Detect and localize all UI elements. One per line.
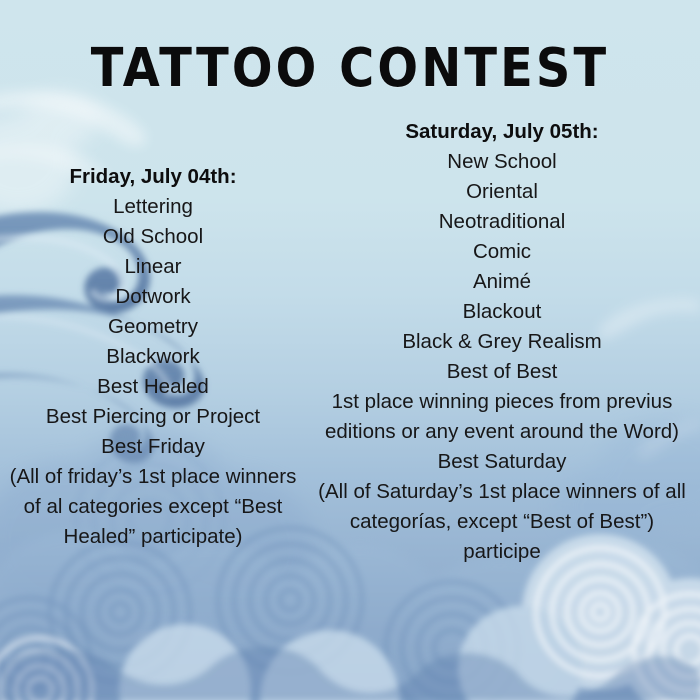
friday-item: Linear	[8, 252, 298, 282]
saturday-best-saturday: Best Saturday	[318, 447, 686, 477]
saturday-item: Black & Grey Realism	[318, 327, 686, 357]
saturday-item: Neotraditional	[318, 207, 686, 237]
friday-item: Geometry	[8, 312, 298, 342]
saturday-item: Animé	[318, 267, 686, 297]
saturday-item: Best of Best	[318, 357, 686, 387]
friday-item: Best Piercing or Project	[8, 402, 298, 432]
saturday-item: Oriental	[318, 177, 686, 207]
friday-heading: Friday, July 04th:	[8, 162, 298, 192]
schedule-columns: Friday, July 04th: Lettering Old School …	[0, 0, 700, 700]
saturday-note: (All of Saturday’s 1st place winners of …	[318, 477, 686, 567]
friday-item: Best Healed	[8, 372, 298, 402]
friday-column: Friday, July 04th: Lettering Old School …	[8, 162, 298, 552]
friday-item: Dotwork	[8, 282, 298, 312]
saturday-heading: Saturday, July 05th:	[318, 117, 686, 147]
saturday-item: Comic	[318, 237, 686, 267]
friday-item: Best Friday	[8, 432, 298, 462]
saturday-column: Saturday, July 05th: New School Oriental…	[318, 117, 686, 567]
poster-content: TATTOO CONTEST Friday, July 04th: Letter…	[0, 0, 700, 700]
friday-item: Old School	[8, 222, 298, 252]
saturday-item: Blackout	[318, 297, 686, 327]
poster-canvas: TATTOO CONTEST Friday, July 04th: Letter…	[0, 0, 700, 700]
friday-item: Blackwork	[8, 342, 298, 372]
saturday-best-of-best-note: 1st place winning pieces from previus ed…	[318, 387, 686, 447]
saturday-item: New School	[318, 147, 686, 177]
friday-item: Lettering	[8, 192, 298, 222]
friday-note: (All of friday’s 1st place winners of al…	[8, 462, 298, 552]
